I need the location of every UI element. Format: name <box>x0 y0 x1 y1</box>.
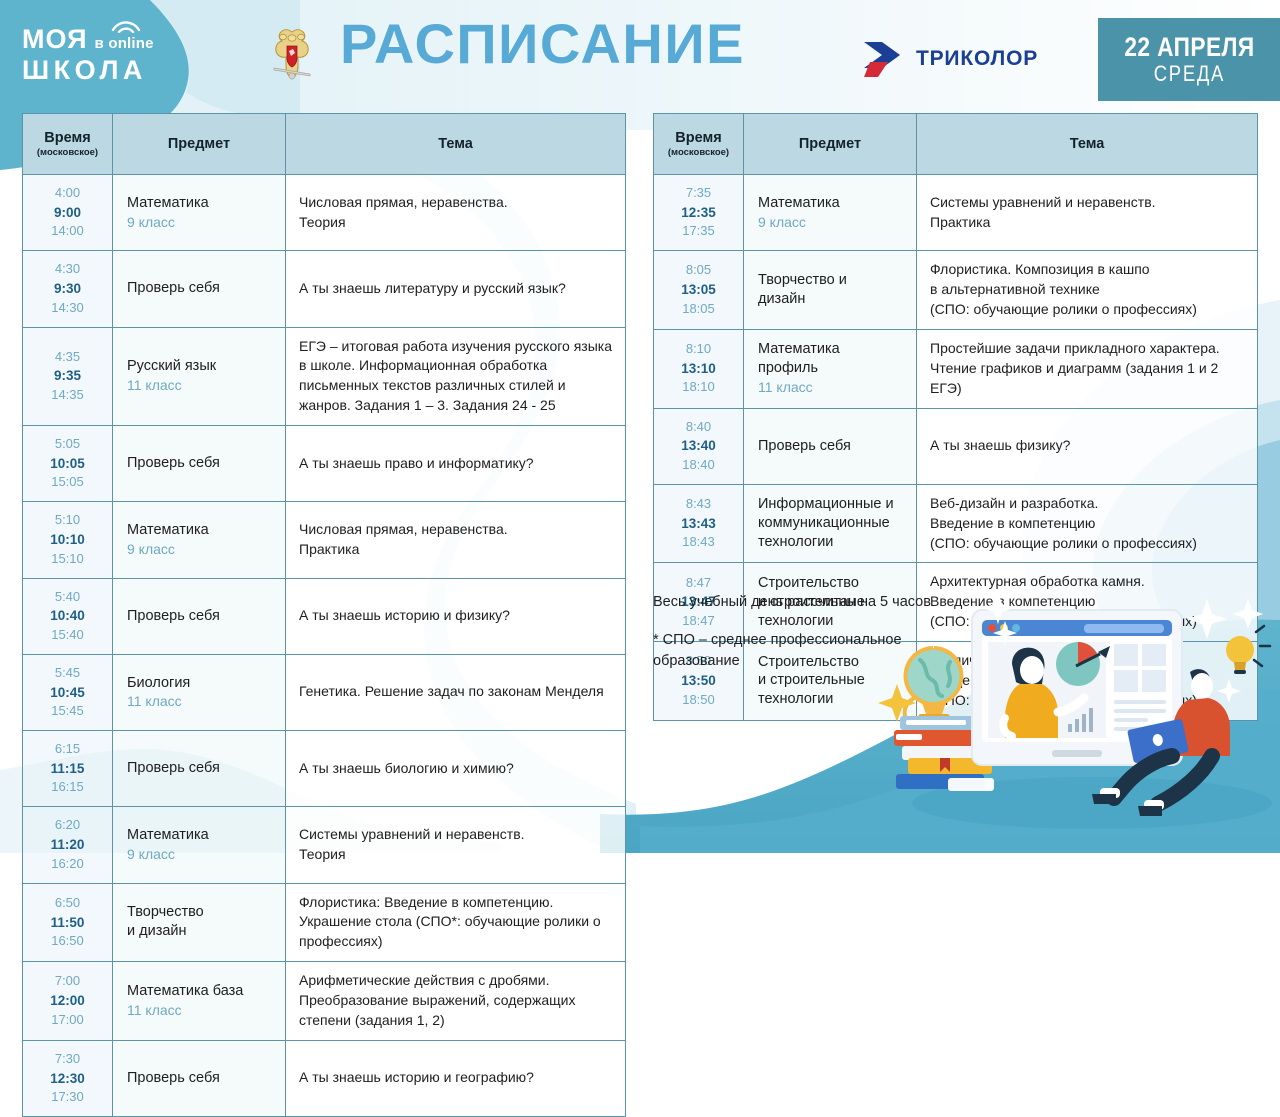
time-t1: 6:50 <box>27 894 108 913</box>
tricolor-logo-icon <box>862 38 908 80</box>
time-t1: 4:00 <box>27 184 108 203</box>
time-t1: 8:10 <box>658 340 739 359</box>
cell-time: 4:359:3514:35 <box>23 327 113 426</box>
cell-time: 8:4013:4018:40 <box>654 408 744 484</box>
time-t3: 16:20 <box>27 855 108 874</box>
schedule-rows-left: 4:009:0014:00Математика9 классЧисловая п… <box>23 175 626 1117</box>
logo-shkola-text: ШКОЛА <box>22 55 182 86</box>
theme-text: ЕГЭ – итоговая работа изучения русского … <box>299 337 612 417</box>
table-row: 8:4013:4018:40Проверь себяА ты знаешь фи… <box>654 408 1258 484</box>
time-t3: 16:50 <box>27 932 108 951</box>
time-t3: 17:35 <box>658 222 739 241</box>
subject-grade: 9 класс <box>127 213 271 232</box>
wifi-icon <box>111 20 141 33</box>
col-subject-label: Предмет <box>750 136 910 153</box>
partner-logo: ТРИКОЛОР <box>862 38 1038 80</box>
time-t1: 7:00 <box>27 972 108 991</box>
time-t2: 13:10 <box>658 359 739 379</box>
time-t2: 12:35 <box>658 203 739 223</box>
cell-time: 5:4010:4015:40 <box>23 578 113 654</box>
time-t2: 10:45 <box>27 683 108 703</box>
cell-subject: Математика профиль11 класс <box>744 329 917 408</box>
subject-name: Русский язык <box>127 357 271 376</box>
subject-name: Проверь себя <box>127 279 271 298</box>
time-t2: 10:10 <box>27 530 108 550</box>
subject-grade: 11 класс <box>127 692 271 711</box>
brand-logo: МОЯ в online ШКОЛА <box>22 26 182 86</box>
theme-text: А ты знаешь физику? <box>930 436 1244 456</box>
time-t3: 15:10 <box>27 550 108 569</box>
theme-text: Простейшие задачи прикладного характера.… <box>930 339 1244 399</box>
cell-time: 7:3512:3517:35 <box>654 175 744 251</box>
cell-theme: А ты знаешь историю и физику? <box>286 578 626 654</box>
time-t3: 17:30 <box>27 1088 108 1107</box>
table-row: 5:4010:4015:40Проверь себяА ты знаешь ис… <box>23 578 626 654</box>
table-row: 6:2011:2016:20Математика9 классСистемы у… <box>23 807 626 883</box>
cell-theme: ЕГЭ – итоговая работа изучения русского … <box>286 327 626 426</box>
cell-time: 5:1010:1015:10 <box>23 502 113 578</box>
subject-name: Математика <box>127 826 271 845</box>
cell-subject: Биология11 класс <box>113 654 286 730</box>
theme-text: Системы уравнений и неравенств. Практика <box>930 193 1244 233</box>
subject-name: Проверь себя <box>127 759 271 778</box>
cell-time: 8:0513:0518:05 <box>654 251 744 330</box>
subject-name: Проверь себя <box>758 437 902 456</box>
cell-time: 8:1013:1018:10 <box>654 329 744 408</box>
subject-name: Творчество и дизайн <box>127 903 271 941</box>
col-time-label: Время <box>660 130 737 147</box>
partner-name: ТРИКОЛОР <box>916 47 1038 71</box>
cell-theme: Числовая прямая, неравенства. Практика <box>286 502 626 578</box>
cell-subject: Русский язык11 класс <box>113 327 286 426</box>
col-header-time: Время (московское) <box>23 114 113 175</box>
table-row: 8:4313:4318:43Информационные и коммуника… <box>654 484 1258 563</box>
time-t1: 8:47 <box>658 574 739 593</box>
cell-theme: Простейшие задачи прикладного характера.… <box>917 329 1258 408</box>
time-t2: 12:30 <box>27 1069 108 1089</box>
subject-grade: 11 класс <box>758 378 902 397</box>
page-title: РАСПИСАНИЕ <box>340 16 745 72</box>
col-header-time: Время (московское) <box>654 114 744 175</box>
theme-text: Числовая прямая, неравенства. Практика <box>299 520 612 560</box>
time-t1: 5:45 <box>27 664 108 683</box>
time-t3: 17:00 <box>27 1011 108 1030</box>
cell-theme: Флористика: Введение в компетенцию. Укра… <box>286 883 626 962</box>
cell-subject: Информационные и коммуникационные технол… <box>744 484 917 563</box>
time-t1: 7:30 <box>27 1050 108 1069</box>
cell-subject: Проверь себя <box>113 251 286 327</box>
cell-time: 6:1511:1516:15 <box>23 731 113 807</box>
theme-text: А ты знаешь право и информатику? <box>299 454 612 474</box>
cell-time: 6:2011:2016:20 <box>23 807 113 883</box>
cell-theme: Флористика. Композиция в кашпо в альтерн… <box>917 251 1258 330</box>
cell-time: 7:3012:3017:30 <box>23 1040 113 1116</box>
time-t1: 6:20 <box>27 816 108 835</box>
subject-name: Проверь себя <box>127 454 271 473</box>
table-row: 6:5011:5016:50Творчество и дизайнФлорист… <box>23 883 626 962</box>
cell-subject: Математика9 класс <box>113 175 286 251</box>
time-t1: 8:43 <box>658 495 739 514</box>
time-t2: 13:40 <box>658 436 739 456</box>
cell-subject: Творчество и дизайн <box>744 251 917 330</box>
cell-theme: А ты знаешь литературу и русский язык? <box>286 251 626 327</box>
cell-time: 7:0012:0017:00 <box>23 962 113 1041</box>
theme-text: Веб-дизайн и разработка. Введение в комп… <box>930 494 1244 554</box>
time-t1: 8:05 <box>658 261 739 280</box>
col-header-subject: Предмет <box>744 114 917 175</box>
time-t2: 13:43 <box>658 514 739 534</box>
cell-subject: Проверь себя <box>113 731 286 807</box>
col-time-label: Время <box>29 130 106 147</box>
subject-name: Проверь себя <box>127 607 271 626</box>
col-header-theme: Тема <box>286 114 626 175</box>
cell-subject: Проверь себя <box>744 408 917 484</box>
logo-moya-text: МОЯ <box>22 26 88 53</box>
time-t3: 18:43 <box>658 533 739 552</box>
time-t2: 9:30 <box>27 279 108 299</box>
schedule-table-left: Время (московское) Предмет Тема 4:009:00… <box>22 113 626 1117</box>
logo-online-badge: в online <box>95 35 154 52</box>
online-learning-illustration <box>862 588 1280 853</box>
cell-theme: Веб-дизайн и разработка. Введение в комп… <box>917 484 1258 563</box>
theme-text: Генетика. Решение задач по законам Менде… <box>299 682 612 702</box>
time-t1: 5:40 <box>27 588 108 607</box>
theme-text: А ты знаешь историю и географию? <box>299 1068 612 1088</box>
time-t2: 12:00 <box>27 991 108 1011</box>
russian-coat-of-arms-icon <box>268 26 316 84</box>
table-row: 7:3512:3517:35Математика9 классСистемы у… <box>654 175 1258 251</box>
time-t3: 14:35 <box>27 386 108 405</box>
time-t2: 13:05 <box>658 280 739 300</box>
cell-theme: А ты знаешь право и информатику? <box>286 426 626 502</box>
table-header-row: Время (московское) Предмет Тема <box>654 114 1258 175</box>
table-row: 5:0510:0515:05Проверь себяА ты знаешь пр… <box>23 426 626 502</box>
cell-theme: Числовая прямая, неравенства. Теория <box>286 175 626 251</box>
theme-text: А ты знаешь историю и физику? <box>299 606 612 626</box>
theme-text: Флористика: Введение в компетенцию. Укра… <box>299 893 612 953</box>
cell-theme: Арифметические действия с дробями. Преоб… <box>286 962 626 1041</box>
cell-subject: Творчество и дизайн <box>113 883 286 962</box>
time-t3: 15:05 <box>27 473 108 492</box>
cell-time: 4:309:3014:30 <box>23 251 113 327</box>
theme-text: А ты знаешь биологию и химию? <box>299 759 612 779</box>
col-header-subject: Предмет <box>113 114 286 175</box>
table-row: 5:1010:1015:10Математика9 классЧисловая … <box>23 502 626 578</box>
cell-time: 4:009:0014:00 <box>23 175 113 251</box>
cell-theme: Генетика. Решение задач по законам Менде… <box>286 654 626 730</box>
cell-subject: Математика9 класс <box>113 502 286 578</box>
cell-time: 6:5011:5016:50 <box>23 883 113 962</box>
time-t1: 8:40 <box>658 418 739 437</box>
theme-text: Системы уравнений и неравенств. Теория <box>299 825 612 865</box>
cell-subject: Математика база11 класс <box>113 962 286 1041</box>
cell-subject: Математика9 класс <box>744 175 917 251</box>
lightbulb-icon <box>1226 626 1270 674</box>
time-t1: 4:30 <box>27 260 108 279</box>
subject-name: Творчество и дизайн <box>758 271 902 309</box>
time-t2: 9:35 <box>27 366 108 386</box>
time-t2: 10:40 <box>27 606 108 626</box>
table-row: 7:0012:0017:00Математика база11 классАри… <box>23 962 626 1041</box>
table-header-row: Время (московское) Предмет Тема <box>23 114 626 175</box>
cell-subject: Проверь себя <box>113 426 286 502</box>
cell-theme: А ты знаешь историю и географию? <box>286 1040 626 1116</box>
col-theme-label: Тема <box>923 136 1251 153</box>
time-t3: 15:40 <box>27 626 108 645</box>
time-t3: 18:05 <box>658 300 739 319</box>
time-t2: 11:20 <box>27 835 108 855</box>
time-t2: 11:15 <box>27 759 108 779</box>
subject-grade: 11 класс <box>127 1001 271 1020</box>
time-t3: 14:00 <box>27 222 108 241</box>
subject-name: Математика <box>758 194 902 213</box>
subject-name: Математика профиль <box>758 340 902 378</box>
date-badge: 22 АПРЕЛЯ СРЕДА <box>1098 18 1280 101</box>
time-t3: 18:47 <box>658 612 739 631</box>
time-t2: 10:05 <box>27 454 108 474</box>
time-t3: 18:10 <box>658 378 739 397</box>
time-t1: 5:10 <box>27 511 108 530</box>
time-t3: 16:15 <box>27 778 108 797</box>
time-t1: 5:05 <box>27 435 108 454</box>
col-time-sublabel: (московское) <box>660 147 737 158</box>
globe-icon <box>905 648 962 722</box>
date-weekday: СРЕДА <box>1153 61 1224 86</box>
table-row: 5:4510:4515:45Биология11 классГенетика. … <box>23 654 626 730</box>
table-row: 4:009:0014:00Математика9 классЧисловая п… <box>23 175 626 251</box>
time-t2: 11:50 <box>27 913 108 933</box>
subject-grade: 9 класс <box>127 540 271 559</box>
time-t2: 9:00 <box>27 203 108 223</box>
date-day: 22 АПРЕЛЯ <box>1124 33 1254 61</box>
subject-name: Проверь себя <box>127 1069 271 1088</box>
table-row: 6:1511:1516:15Проверь себяА ты знаешь би… <box>23 731 626 807</box>
theme-text: Числовая прямая, неравенства. Теория <box>299 193 612 233</box>
cell-time: 5:4510:4515:45 <box>23 654 113 730</box>
time-t3: 15:45 <box>27 702 108 721</box>
time-t2: 13:50 <box>658 671 739 691</box>
time-t3: 18:50 <box>658 691 739 710</box>
col-theme-label: Тема <box>292 136 619 153</box>
table-row: 4:359:3514:35Русский язык11 классЕГЭ – и… <box>23 327 626 426</box>
time-t1: 4:35 <box>27 348 108 367</box>
theme-text: Арифметические действия с дробями. Преоб… <box>299 971 612 1031</box>
subject-name: Биология <box>127 674 271 693</box>
time-t3: 18:40 <box>658 456 739 475</box>
col-header-theme: Тема <box>917 114 1258 175</box>
theme-text: А ты знаешь литературу и русский язык? <box>299 279 612 299</box>
cell-time: 5:0510:0515:05 <box>23 426 113 502</box>
subject-name: Математика <box>127 194 271 213</box>
subject-grade: 9 класс <box>758 213 902 232</box>
cell-time: 8:4313:4318:43 <box>654 484 744 563</box>
cell-subject: Проверь себя <box>113 1040 286 1116</box>
cell-theme: А ты знаешь физику? <box>917 408 1258 484</box>
cell-theme: А ты знаешь биологию и химию? <box>286 731 626 807</box>
subject-name: Математика база <box>127 982 271 1001</box>
table-row: 7:3012:3017:30Проверь себяА ты знаешь ис… <box>23 1040 626 1116</box>
theme-text: Флористика. Композиция в кашпо в альтерн… <box>930 260 1244 320</box>
col-time-sublabel: (московское) <box>29 147 106 158</box>
cell-subject: Проверь себя <box>113 578 286 654</box>
table-row: 4:309:3014:30Проверь себяА ты знаешь лит… <box>23 251 626 327</box>
time-t1: 6:15 <box>27 740 108 759</box>
cell-theme: Системы уравнений и неравенств. Теория <box>286 807 626 883</box>
subject-grade: 9 класс <box>127 845 271 864</box>
time-t3: 14:30 <box>27 299 108 318</box>
cell-subject: Математика9 класс <box>113 807 286 883</box>
time-t1: 7:35 <box>658 184 739 203</box>
table-row: 8:0513:0518:05Творчество и дизайнФлорист… <box>654 251 1258 330</box>
subject-grade: 11 класс <box>127 376 271 395</box>
col-subject-label: Предмет <box>119 136 279 153</box>
cell-theme: Системы уравнений и неравенств. Практика <box>917 175 1258 251</box>
table-row: 8:1013:1018:10Математика профиль11 класс… <box>654 329 1258 408</box>
subject-name: Информационные и коммуникационные технол… <box>758 495 902 552</box>
subject-name: Математика <box>127 521 271 540</box>
page-header: МОЯ в online ШКОЛА РАСПИСАНИЕ <box>0 0 1280 110</box>
